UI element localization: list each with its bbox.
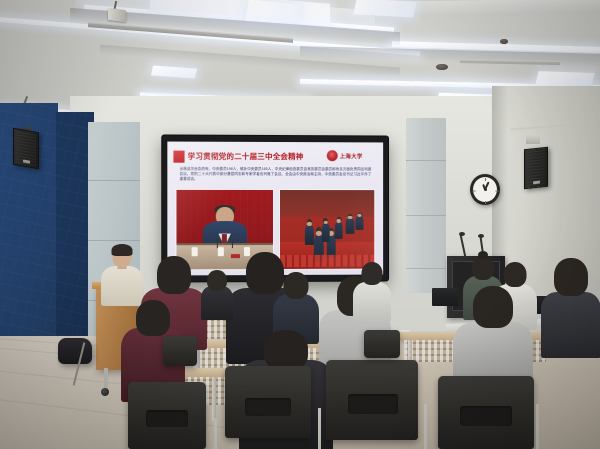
clock-tick (485, 178, 486, 181)
lecture-room-photo: 学习贯彻党的二十届三中全会精神 上海大学 出席这次全会的有，中央委员198人，候… (0, 0, 600, 449)
chair-leg (424, 404, 427, 449)
chair-handle-slot (245, 398, 291, 416)
right-wall-speaker (524, 147, 548, 190)
microphone-icon (478, 234, 484, 238)
chair-handle-slot (460, 406, 512, 426)
left-wall-speaker (13, 128, 39, 170)
chair-handle-slot (146, 410, 188, 427)
white-shirt-student (352, 262, 392, 318)
delegate-figure (346, 218, 355, 234)
chair-handle-slot (348, 394, 398, 414)
clock-tick (485, 201, 486, 204)
clock-tick (473, 191, 476, 192)
pillar-seam (406, 268, 446, 269)
person-hair (112, 244, 133, 256)
person-head (264, 330, 308, 370)
slide-body-text: 出席这次全会的有，中央委员198人，候补中央委员165人，中央纪律检查委员会常务… (179, 167, 371, 188)
university-seal-icon (327, 150, 338, 161)
bag-on-floor (58, 338, 92, 364)
person-head (157, 256, 191, 294)
person-hair-bun (478, 251, 488, 259)
delegate-figure (335, 222, 344, 239)
person-head (284, 272, 309, 299)
person-body (541, 292, 600, 358)
delegate-figure (321, 223, 330, 242)
wall-clock (470, 174, 500, 205)
slide-title: 学习贯彻党的二十届三中全会精神 (188, 151, 324, 163)
pillar-seam (406, 160, 446, 161)
chair-back[interactable] (163, 336, 197, 366)
ceiling-panel-light (535, 71, 594, 87)
person-head (207, 270, 227, 291)
water-cup (218, 247, 224, 257)
lectern-caster (101, 388, 109, 396)
person-head (136, 300, 170, 336)
panel-seam (88, 240, 140, 241)
ceiling-panel-light (353, 0, 416, 17)
person-head (362, 262, 383, 285)
person-head (472, 256, 494, 280)
glasses-student-right (540, 258, 600, 354)
lectern-leg (104, 368, 108, 390)
slide-title-marker (173, 151, 184, 163)
smoke-detector-icon (436, 64, 448, 70)
presenter-at-podium (100, 244, 144, 304)
microphone-icon (232, 238, 233, 248)
smoke-detector-icon (500, 39, 508, 44)
person-head (554, 258, 588, 296)
speaker-bracket (526, 134, 540, 144)
person-head (504, 262, 527, 287)
seated-student-far-left (200, 270, 234, 318)
panel-seam (88, 180, 140, 181)
wall-pillar (406, 118, 446, 293)
chair-back[interactable] (364, 330, 400, 358)
delegate-figure (355, 216, 363, 229)
chair-leg (214, 418, 217, 449)
pillar-seam (406, 215, 446, 216)
chair-leg (318, 408, 321, 449)
chair-leg (536, 404, 539, 449)
microphone-icon (459, 232, 465, 236)
clock-center-pin (484, 188, 487, 191)
desk-leg (212, 377, 216, 421)
delegate-figure (305, 225, 314, 246)
institution-logo: 上海大学 (327, 149, 378, 162)
clock-tick (496, 191, 499, 192)
person-body (353, 282, 391, 322)
person-body (201, 286, 233, 320)
person-head (473, 286, 513, 328)
institution-name: 上海大学 (340, 152, 363, 160)
